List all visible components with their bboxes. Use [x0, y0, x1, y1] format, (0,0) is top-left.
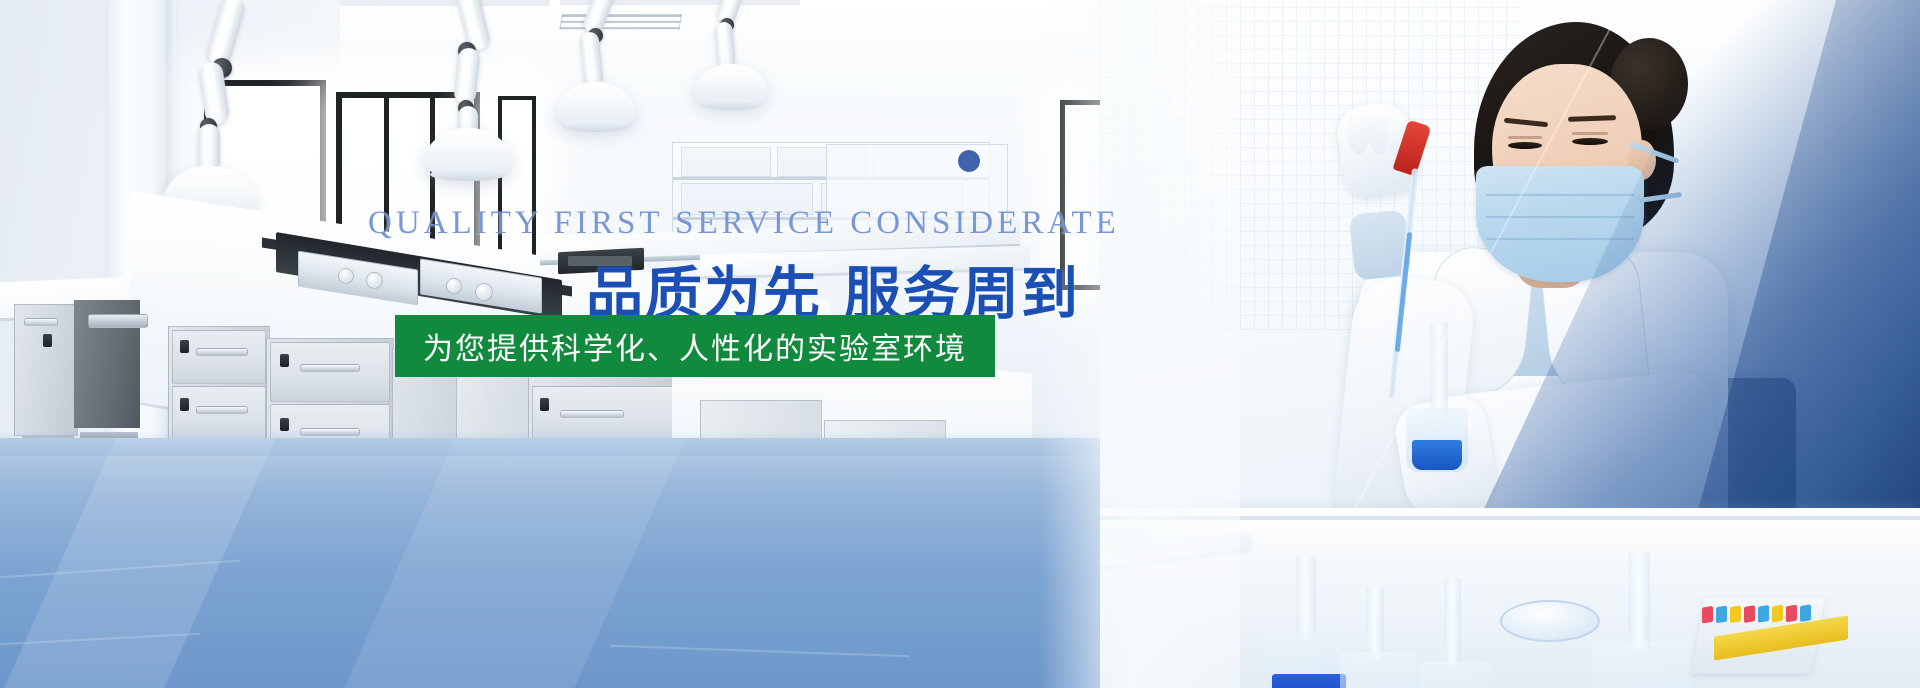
- hero-banner: QUALITY FIRST SERVICE CONSIDERATE 品质为先 服…: [0, 0, 1920, 688]
- shelf-logo-icon: [958, 150, 980, 172]
- glove-finger: [1368, 104, 1390, 154]
- glove-finger: [1348, 110, 1370, 154]
- lab-interior-photo: [0, 0, 1180, 688]
- eyelid: [1508, 136, 1542, 139]
- drawer-handle: [300, 364, 360, 372]
- drawer-handle: [196, 348, 248, 356]
- lab-sample-slide: [1100, 529, 1146, 538]
- drawer-lock-icon: [280, 354, 289, 367]
- held-flask-liquid: [1412, 440, 1462, 470]
- eye: [1572, 138, 1608, 145]
- drawer-handle: [196, 406, 248, 414]
- drawer: [270, 342, 390, 402]
- bench-equipment-slot: [568, 256, 632, 266]
- service-knob: [366, 272, 383, 289]
- floor-wall-join: [0, 430, 1180, 456]
- drawer-handle: [560, 410, 624, 418]
- drawer-lock-icon: [180, 340, 189, 353]
- service-knob: [475, 283, 493, 301]
- service-knob: [338, 268, 354, 284]
- service-knob: [446, 278, 462, 294]
- scientist-photo: [1100, 0, 1920, 688]
- cabinet-handle: [24, 318, 58, 326]
- drawer-lock-icon: [540, 398, 549, 411]
- drawer-lock-icon: [180, 398, 189, 411]
- petri-dish: [1500, 600, 1600, 642]
- cabinet-handle: [88, 314, 148, 328]
- eye: [1508, 142, 1542, 149]
- cabinet-lock-icon: [43, 334, 52, 347]
- desk-edge: [1100, 516, 1920, 520]
- eyelid: [1572, 132, 1608, 135]
- drawer: [172, 330, 266, 384]
